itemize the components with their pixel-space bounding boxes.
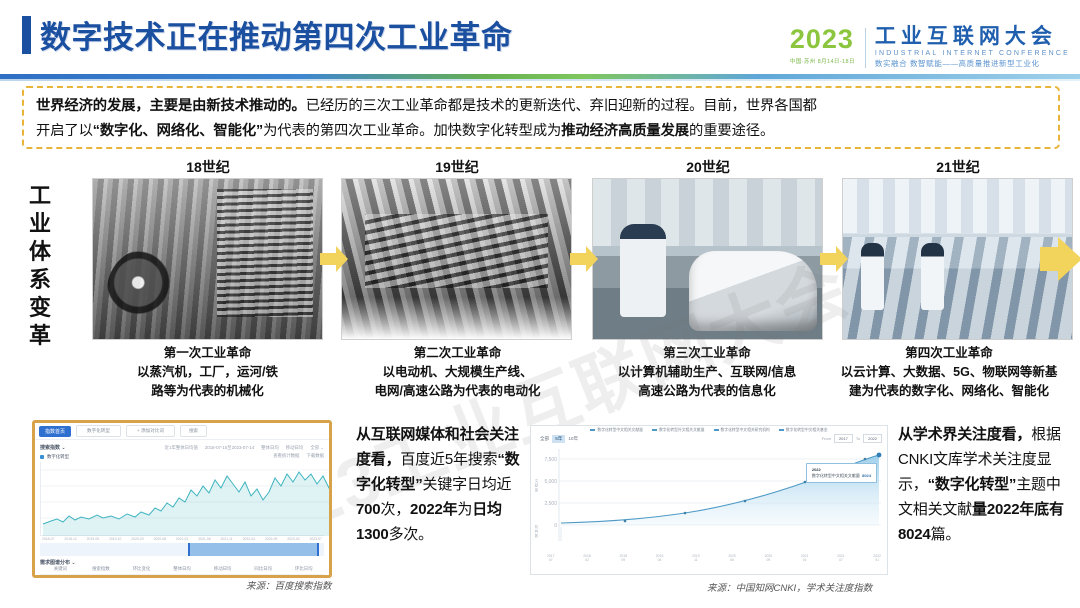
left-text-n7: 多次。	[389, 526, 433, 543]
callout-seg-f: 的重要途径。	[689, 123, 774, 139]
legend-line-icon-1	[652, 429, 657, 431]
era-caption-0: 第一次工业革命 以蒸汽机，工厂，运河/铁 路等为代表的机械化	[80, 344, 335, 401]
cnki-xtick-9: 202201	[873, 554, 881, 563]
logo-name-en: INDUSTRIAL INTERNET CONFERENCE	[875, 50, 1070, 57]
svg-text:7,500: 7,500	[544, 457, 557, 463]
automotive-plant-photo	[592, 178, 823, 340]
cnki-tooltip-row: 数字化转型中文相关文献量 8024	[812, 473, 871, 479]
cnki-legend-0[interactable]: 数字化转型中文相关文献量	[590, 428, 643, 433]
era-caption-title-3: 第四次工业革命	[818, 344, 1080, 363]
worker-figure-2	[921, 243, 944, 310]
callout-seg-a: 开启了以	[36, 123, 93, 139]
baidu-meta-1: 2018-07-15至2023-07-14	[205, 445, 254, 451]
era-caption-line1-3: 以云计算、大数据、5G、物联网等新基	[818, 363, 1080, 382]
legend-line-icon-0	[590, 429, 595, 431]
baidu-keyword-input[interactable]: 数字化转型	[76, 425, 121, 437]
baidu-xtick-7: 2021-06	[198, 537, 210, 541]
slide-header: 数字技术正在推动第四次工业革命 2023 中国·苏州 8月14日-18日 工业互…	[0, 0, 1080, 80]
arrow-icon-3	[820, 246, 848, 272]
baidu-xtick-11: 2023-02	[287, 537, 299, 541]
cnki-range-from-input[interactable]: 2017	[834, 434, 853, 443]
cnki-legend-label-1: 数字化转型外文相关文献量	[659, 428, 705, 432]
left-text-n5: 次，	[380, 501, 410, 518]
svg-text:0: 0	[554, 523, 557, 529]
left-text-n6: 为	[457, 501, 472, 518]
baidu-view-stats-link[interactable]: 查看统计数据	[273, 453, 299, 459]
baidu-line-chart	[40, 462, 324, 536]
baidu-th-6: 环比日均	[283, 566, 324, 572]
vlabel-c0: 工	[20, 182, 60, 210]
cnki-range-tabs: 全部 5年 10年	[537, 435, 581, 443]
cnki-tooltip-label: 数字化转型中文相关文献量	[812, 473, 860, 478]
era-caption-line2-1: 电网/高速公路为代表的电动化	[330, 382, 585, 401]
baidu-legend-label: 数字化转型	[47, 454, 69, 460]
callout-box: 世界经济的发展，主要是由新技术推动的。已经历的三次工业革命都是技术的更新迭代、弃…	[22, 86, 1060, 149]
baidu-panel-meta: 近1年整体日均值 2018-07-15至2023-07-14 整体日均 移动日均…	[165, 445, 324, 451]
vlabel-c2: 体	[20, 238, 60, 266]
era-period-2: 20世纪	[588, 157, 828, 177]
baidu-xtick-3: 2019-10	[109, 537, 121, 541]
legend-line-icon-3	[779, 429, 784, 431]
steam-factory-photo-content	[93, 179, 322, 339]
baidu-index-screenshot: 指数首页 数字化转型 + 添加对比词 搜索 搜索指数 ⌄ 近1年整体日均值 20…	[32, 420, 332, 578]
baidu-xtick-6: 2021-01	[176, 537, 188, 541]
baidu-meta-2[interactable]: 整体日均	[261, 445, 279, 451]
logo-tagline: 数实融合 数智赋能——高质量推进新型工业化	[875, 60, 1070, 68]
vlabel-c3: 系	[20, 266, 60, 294]
cnki-range-to-input[interactable]: 2022	[863, 434, 882, 443]
cnki-controls: 全部 5年 10年 From 2017 To 2022	[531, 434, 887, 445]
baidu-meta-3[interactable]: 移动日均	[286, 445, 304, 451]
era-period-3: 21世纪	[838, 157, 1078, 177]
legend-line-icon-2	[714, 429, 719, 431]
baidu-range-selection[interactable]	[188, 543, 319, 556]
callout-seg-c: 为代表的第四次工业革命。	[263, 123, 433, 139]
smart-factory-photo	[842, 178, 1073, 340]
cnki-range-from-label: From	[822, 436, 831, 441]
baidu-xtick-5: 2020-08	[154, 537, 166, 541]
baidu-add-compare-input[interactable]: + 添加对比词	[126, 425, 175, 437]
baidu-th-0: 关键词	[40, 566, 81, 572]
svg-text:2,500: 2,500	[544, 501, 557, 507]
baidu-meta-4[interactable]: 全部 ⌄	[310, 445, 324, 451]
callout-line-1: 世界经济的发展，主要是由新技术推动的。已经历的三次工业革命都是技术的更新迭代、弃…	[36, 94, 1048, 119]
era-caption-2: 第三次工业革命 以计算机辅助生产、互联网/信息 高速公路为代表的信息化	[578, 344, 836, 401]
cnki-chart-screenshot: 数字化转型中文相关文献量 数字化转型外文相关文献量 数字化转型中文相关研究机构 …	[530, 425, 888, 575]
cnki-range-to-label: To	[856, 436, 860, 441]
left-text-n2: 近5年搜索	[430, 451, 497, 468]
baidu-legend: 数字化转型	[40, 454, 69, 460]
cnki-xtick-0: 201707	[547, 554, 555, 563]
left-analysis-text: 从互联网媒体和社会关注度看，百度近5年搜索“数字化转型”关键字日均近700次，2…	[356, 422, 524, 547]
smart-factory-photo-content	[843, 179, 1072, 339]
callout-line-2: 开启了以“数字化、网络化、智能化”为代表的第四次工业革命。加快数字化转型成为推动…	[36, 119, 1048, 144]
cnki-legend-label-2: 数字化转型中文相关研究机构	[721, 428, 770, 432]
era-caption-line1-2: 以计算机辅助生产、互联网/信息	[578, 363, 836, 382]
right-text-b4: 量2022年底	[972, 501, 1049, 518]
baidu-legend-row: 数字化转型 查看统计数据 下载数据	[40, 451, 324, 460]
baidu-th-3: 整体日均	[162, 566, 203, 572]
baidu-source-caption: 来源：百度搜索指数	[246, 578, 332, 592]
left-text-n4: 近	[497, 476, 512, 493]
cnki-area-chart: 文献量 机构数 7,500 5,000 2,500 0	[535, 445, 883, 553]
left-text-b4: 转型”	[386, 476, 423, 493]
baidu-home-button[interactable]: 指数首页	[39, 426, 71, 437]
cnki-xtick-5: 202006	[728, 554, 736, 563]
right-text-b3: 化转型”	[965, 476, 1017, 493]
baidu-xtick-9: 2022-04	[243, 537, 255, 541]
logo-divider	[865, 28, 866, 68]
cnki-chart-svg: 7,500 5,000 2,500 0	[535, 445, 883, 553]
slide-root: 数字技术正在推动第四次工业革命 2023 中国·苏州 8月14日-18日 工业互…	[0, 0, 1080, 608]
baidu-panel-body: 搜索指数 ⌄ 近1年整体日均值 2018-07-15至2023-07-14 整体…	[35, 440, 329, 578]
era-caption-title-2: 第三次工业革命	[578, 344, 836, 363]
baidu-xtick-0: 2018-07	[42, 537, 54, 541]
cnki-tab-10y[interactable]: 10年	[565, 435, 581, 443]
baidu-range-handle-right[interactable]	[317, 543, 320, 556]
callout-seg-b: “数字化、网络化、智能化”	[93, 123, 263, 139]
callout-seg-d: 加快数字化转型成为	[433, 123, 561, 139]
cnki-xtick-2: 201809	[620, 554, 628, 563]
baidu-th-2: 环比变化	[121, 566, 162, 572]
logo-year-block: 2023 中国·苏州 8月14日-18日	[790, 26, 865, 65]
era-caption-line2-0: 路等为代表的机械化	[80, 382, 335, 401]
right-text-b2: “数字	[928, 476, 965, 493]
baidu-xtick-4: 2020-03	[131, 537, 143, 541]
cnki-legend-label-0: 数字化转型中文相关文献量	[597, 428, 643, 432]
baidu-panel-header: 搜索指数 ⌄ 近1年整体日均值 2018-07-15至2023-07-14 整体…	[40, 444, 324, 451]
era-caption-line1-0: 以蒸汽机，工厂，运河/铁	[80, 363, 335, 382]
baidu-legend-actions: 查看统计数据 下载数据	[273, 453, 324, 459]
baidu-xtick-8: 2021-11	[221, 537, 233, 541]
baidu-table-header-row: 关键词 搜索指数 环比变化 整体日均 移动日均 同比日均 环比日均	[40, 566, 324, 575]
cnki-legend: 数字化转型中文相关文献量 数字化转型外文相关文献量 数字化转型中文相关研究机构 …	[531, 426, 887, 434]
cnki-tab-all[interactable]: 全部	[537, 435, 552, 443]
cnki-tooltip: 2022 数字化转型中文相关文献量 8024	[806, 463, 877, 483]
cnki-legend-label-3: 数字化转型中文相关基金	[786, 428, 828, 432]
cnki-range-picker: From 2017 To 2022	[822, 434, 882, 443]
cnki-xtick-4: 201911	[692, 554, 700, 563]
cnki-xtick-6: 202009	[765, 554, 773, 563]
callout-seg-e: 推动经济高质量发展	[561, 123, 689, 139]
cnki-xtick-3: 201904	[656, 554, 664, 563]
conference-logo: 2023 中国·苏州 8月14日-18日 工业互联网大会 INDUSTRIAL …	[790, 26, 1070, 68]
baidu-th-5: 同比日均	[243, 566, 284, 572]
baidu-table-title[interactable]: 需求图谱分布 ⌄	[40, 559, 324, 566]
vlabel-c5: 革	[20, 322, 60, 350]
callout-rest-1: 已经历的三次工业革命都是技术的更新迭代、弃旧迎新的过程。目前，世界各国都	[306, 98, 817, 114]
logo-year-text: 2023	[790, 26, 855, 53]
svg-text:5,000: 5,000	[544, 479, 557, 485]
assembly-line-photo	[341, 178, 572, 340]
baidu-xtick-12: 2023-07	[310, 537, 322, 541]
era-caption-title-1: 第二次工业革命	[330, 344, 585, 363]
logo-name-block: 工业互联网大会 INDUSTRIAL INTERNET CONFERENCE 数…	[875, 26, 1070, 68]
right-analysis-text: 从学术界关注度看，根据CNKI文库学术关注度显示，“数字化转型”主题中文相关文献…	[898, 422, 1070, 547]
baidu-toolbar: 指数首页 数字化转型 + 添加对比词 搜索	[35, 423, 329, 440]
worker-figure	[620, 224, 666, 317]
arrow-icon-4	[1040, 246, 1080, 272]
baidu-xtick-2: 2019-05	[87, 537, 99, 541]
baidu-xtick-10: 2022-09	[265, 537, 277, 541]
vlabel-c4: 变	[20, 294, 60, 322]
left-text-b6: 2022年	[410, 501, 457, 518]
left-text-b5: 700	[356, 501, 380, 518]
left-text-b1: 从互联网媒体和社	[356, 426, 474, 443]
era-caption-line2-2: 高速公路为代表的信息化	[578, 382, 836, 401]
cnki-legend-1[interactable]: 数字化转型外文相关文献量	[652, 428, 705, 433]
baidu-chart-svg	[41, 462, 331, 536]
header-divider-rule-secondary	[0, 79, 1080, 81]
era-caption-line2-3: 建为代表的数字化、网络化、智能化	[818, 382, 1080, 401]
baidu-x-axis: 2018-07 2018-12 2019-05 2019-10 2020-03 …	[40, 536, 324, 541]
cnki-legend-2[interactable]: 数字化转型中文相关研究机构	[714, 428, 770, 433]
era-caption-title-0: 第一次工业革命	[80, 344, 335, 363]
baidu-range-handle-left[interactable]	[188, 543, 191, 556]
baidu-meta-0: 近1年整体日均值	[165, 445, 198, 451]
cnki-x-axis: 201707 201802 201809 201904 201911 20200…	[531, 553, 887, 563]
baidu-download-link[interactable]: 下载数据	[306, 453, 324, 459]
cnki-source-caption: 来源：中国知网CNKI，学术关注度指数	[707, 580, 872, 594]
legend-swatch-icon	[40, 455, 44, 459]
era-period-0: 18世纪	[88, 157, 328, 177]
era-caption-line1-1: 以电动机、大规模生产线、	[330, 363, 585, 382]
right-text-n5: 篇。	[931, 526, 961, 543]
logo-year-subtitle: 中国·苏州 8月14日-18日	[790, 57, 855, 65]
era-caption-3: 第四次工业革命 以云计算、大数据、5G、物联网等新基 建为代表的数字化、网络化、…	[818, 344, 1080, 401]
baidu-th-4: 移动日均	[202, 566, 243, 572]
vertical-section-label: 工 业 体 系 变 革	[20, 182, 60, 350]
arrow-icon-2	[570, 246, 598, 272]
baidu-search-button[interactable]: 搜索	[180, 425, 207, 437]
worker-figure-1	[861, 243, 884, 310]
assembly-line-photo-content	[342, 179, 571, 339]
left-text-n1: 百度	[400, 451, 430, 468]
baidu-panel-title[interactable]: 搜索指数 ⌄	[40, 444, 66, 451]
cnki-xtick-8: 202107	[837, 554, 845, 563]
baidu-range-slider[interactable]	[40, 543, 324, 556]
era-caption-1: 第二次工业革命 以电动机、大规模生产线、 电网/高速公路为代表的电动化	[330, 344, 585, 401]
vlabel-c1: 业	[20, 210, 60, 238]
baidu-th-1: 搜索指数	[81, 566, 122, 572]
left-text-n3: 关键字日均	[423, 476, 497, 493]
cnki-tab-5y[interactable]: 5年	[552, 435, 565, 443]
logo-name-cn: 工业互联网大会	[875, 26, 1070, 47]
baidu-xtick-1: 2018-12	[64, 537, 76, 541]
baidu-demand-table: 需求图谱分布 ⌄ 关键词 搜索指数 环比变化 整体日均 移动日均 同比日均 环比…	[40, 559, 324, 578]
arrow-icon-1	[320, 246, 348, 272]
right-text-n4: 关文献	[928, 501, 972, 518]
cnki-legend-3[interactable]: 数字化转型中文相关基金	[779, 428, 828, 433]
steam-factory-photo	[92, 178, 323, 340]
right-text-b1: 从学术界关注度看，	[898, 426, 1031, 443]
cnki-tooltip-value: 8024	[862, 473, 871, 478]
title-accent-bar	[22, 16, 31, 54]
callout-bold-lead: 世界经济的发展，主要是由新技术推动的。	[36, 98, 306, 114]
cnki-xtick-1: 201802	[583, 554, 591, 563]
cnki-xtick-7: 202101	[801, 554, 809, 563]
era-period-1: 19世纪	[337, 157, 577, 177]
page-title: 数字技术正在推动第四次工业革命	[40, 12, 513, 57]
automotive-plant-photo-content	[593, 179, 822, 339]
